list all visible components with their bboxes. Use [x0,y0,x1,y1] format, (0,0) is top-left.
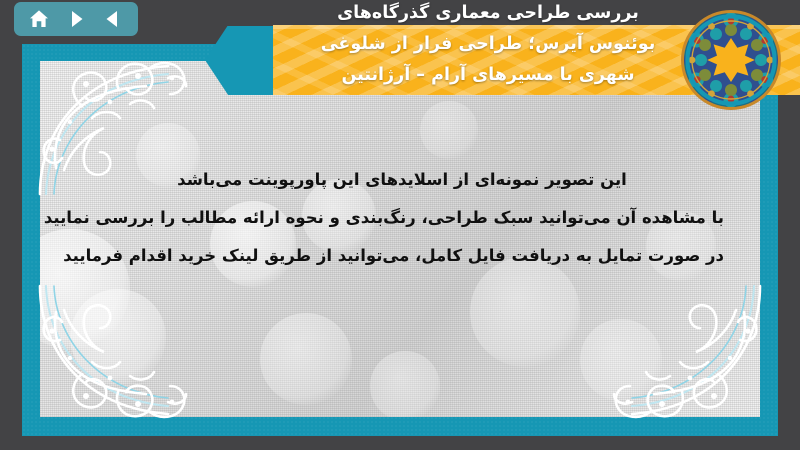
bokeh-circle [70,289,166,385]
slide-viewer: این تصویر نمونه‌ای از اسلایدهای این پاور… [0,0,800,450]
previous-slide-button[interactable] [98,6,128,32]
body-line-3: در صورت تمایل به دریافت فایل کامل، می‌تو… [80,237,724,275]
persian-star-medallion [679,8,783,112]
bokeh-circle [370,351,440,417]
bokeh-circle [260,313,352,405]
slide-content-panel: این تصویر نمونه‌ای از اسلایدهای این پاور… [40,61,760,417]
slide-canvas: این تصویر نمونه‌ای از اسلایدهای این پاور… [22,44,778,436]
previous-triangle-icon [103,9,123,29]
header-dark-overlay [128,0,273,26]
body-line-1: این تصویر نمونه‌ای از اسلایدهای این پاور… [80,161,724,199]
home-button[interactable] [24,6,54,32]
bokeh-circle [420,101,478,159]
next-slide-button[interactable] [61,6,91,32]
bokeh-circle [580,319,662,401]
body-line-2: با مشاهده آن می‌توانید سبک طراحی، رنگ‌بن… [80,199,724,237]
slide-body-text: این تصویر نمونه‌ای از اسلایدهای این پاور… [80,161,724,275]
navigation-toolbar [14,2,138,36]
next-triangle-icon [66,9,86,29]
home-icon [28,8,50,30]
